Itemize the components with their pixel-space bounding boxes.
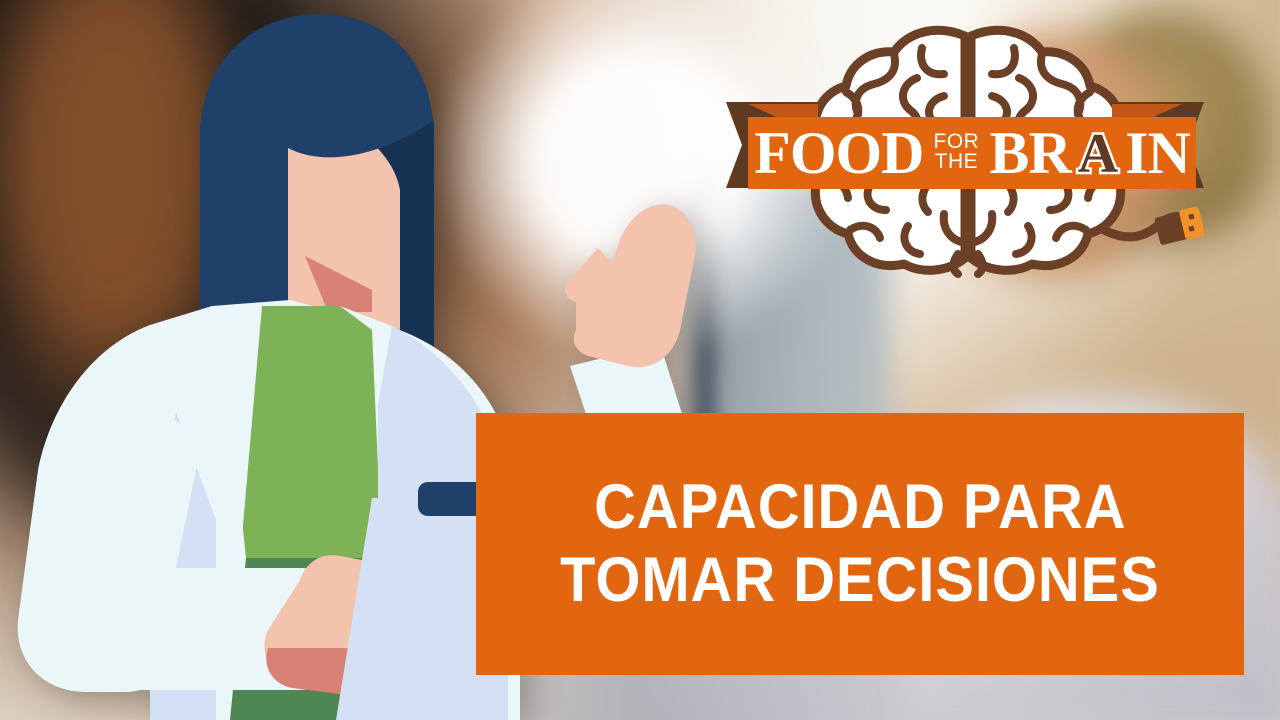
thumbnail-canvas: FOOD FOR THE BR A IN CAPACIDAD PARA TOMA…: [0, 0, 1280, 720]
raised-hand: [565, 204, 696, 367]
title-line-1: CAPACIDAD PARA: [594, 474, 1126, 541]
title-banner: CAPACIDAD PARA TOMAR DECISIONES: [476, 413, 1244, 675]
title-line-2: TOMAR DECISIONES: [560, 547, 1160, 614]
food-for-the-brain-logo[interactable]: FOOD FOR THE BR A IN: [712, 18, 1218, 280]
ribbon-band: [748, 117, 1196, 189]
